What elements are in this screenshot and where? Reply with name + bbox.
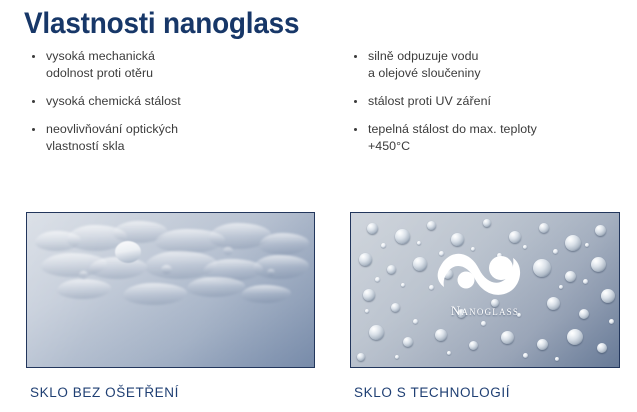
nanoglass-logo: Nanoglass (433, 251, 537, 318)
bullet-dot-icon (32, 128, 35, 131)
photo-treated-glass-canvas: Nanoglass (351, 213, 619, 367)
bullet-dot-icon (354, 128, 357, 131)
bullet-dot-icon (354, 100, 357, 103)
page-title: Vlastnosti nanoglass (24, 6, 299, 42)
feature-list-right: silně odpuzuje vodu a olejové sloučeniny… (352, 48, 637, 155)
feature-text-line1: vysoká mechanická (46, 48, 330, 65)
caption-untreated-glass: SKLO BEZ OŠETŘENÍ (30, 384, 179, 402)
photo-untreated-glass-canvas (27, 213, 314, 367)
features-column-left: vysoká mechanická odolnost proti otěru v… (30, 48, 330, 155)
nanoglass-wordmark: Nanoglass (433, 304, 537, 318)
feature-text-line1: neovlivňování optických (46, 121, 330, 138)
bullet-dot-icon (354, 55, 357, 58)
list-item: silně odpuzuje vodu a olejové sloučeniny (352, 48, 637, 82)
nanoglass-mark-icon (435, 251, 535, 303)
photo-treated-glass: Nanoglass (350, 212, 620, 368)
feature-text-line2: odolnost proti otěru (46, 65, 330, 82)
photo-untreated-glass (26, 212, 315, 368)
features-columns: vysoká mechanická odolnost proti otěru v… (0, 48, 637, 198)
feature-text-line1: vysoká chemická stálost (46, 93, 330, 110)
features-column-right: silně odpuzuje vodu a olejové sloučeniny… (352, 48, 637, 155)
caption-treated-glass: SKLO S TECHNOLOGIÍ (354, 384, 510, 402)
feature-text-line2: vlastností skla (46, 138, 330, 155)
bullet-dot-icon (32, 55, 35, 58)
feature-text-line1: tepelná stálost do max. teploty (368, 121, 637, 138)
list-item: stálost proti UV záření (352, 93, 637, 110)
feature-text-line2: +450°C (368, 138, 637, 155)
feature-text-line1: stálost proti UV záření (368, 93, 637, 110)
list-item: vysoká mechanická odolnost proti otěru (30, 48, 330, 82)
bullet-dot-icon (32, 100, 35, 103)
list-item: tepelná stálost do max. teploty +450°C (352, 121, 637, 155)
feature-text-line2: a olejové sloučeniny (368, 65, 637, 82)
list-item: vysoká chemická stálost (30, 93, 330, 110)
feature-list-left: vysoká mechanická odolnost proti otěru v… (30, 48, 330, 155)
feature-text-line1: silně odpuzuje vodu (368, 48, 637, 65)
list-item: neovlivňování optických vlastností skla (30, 121, 330, 155)
slide-root: Vlastnosti nanoglass vysoká mechanická o… (0, 0, 637, 412)
